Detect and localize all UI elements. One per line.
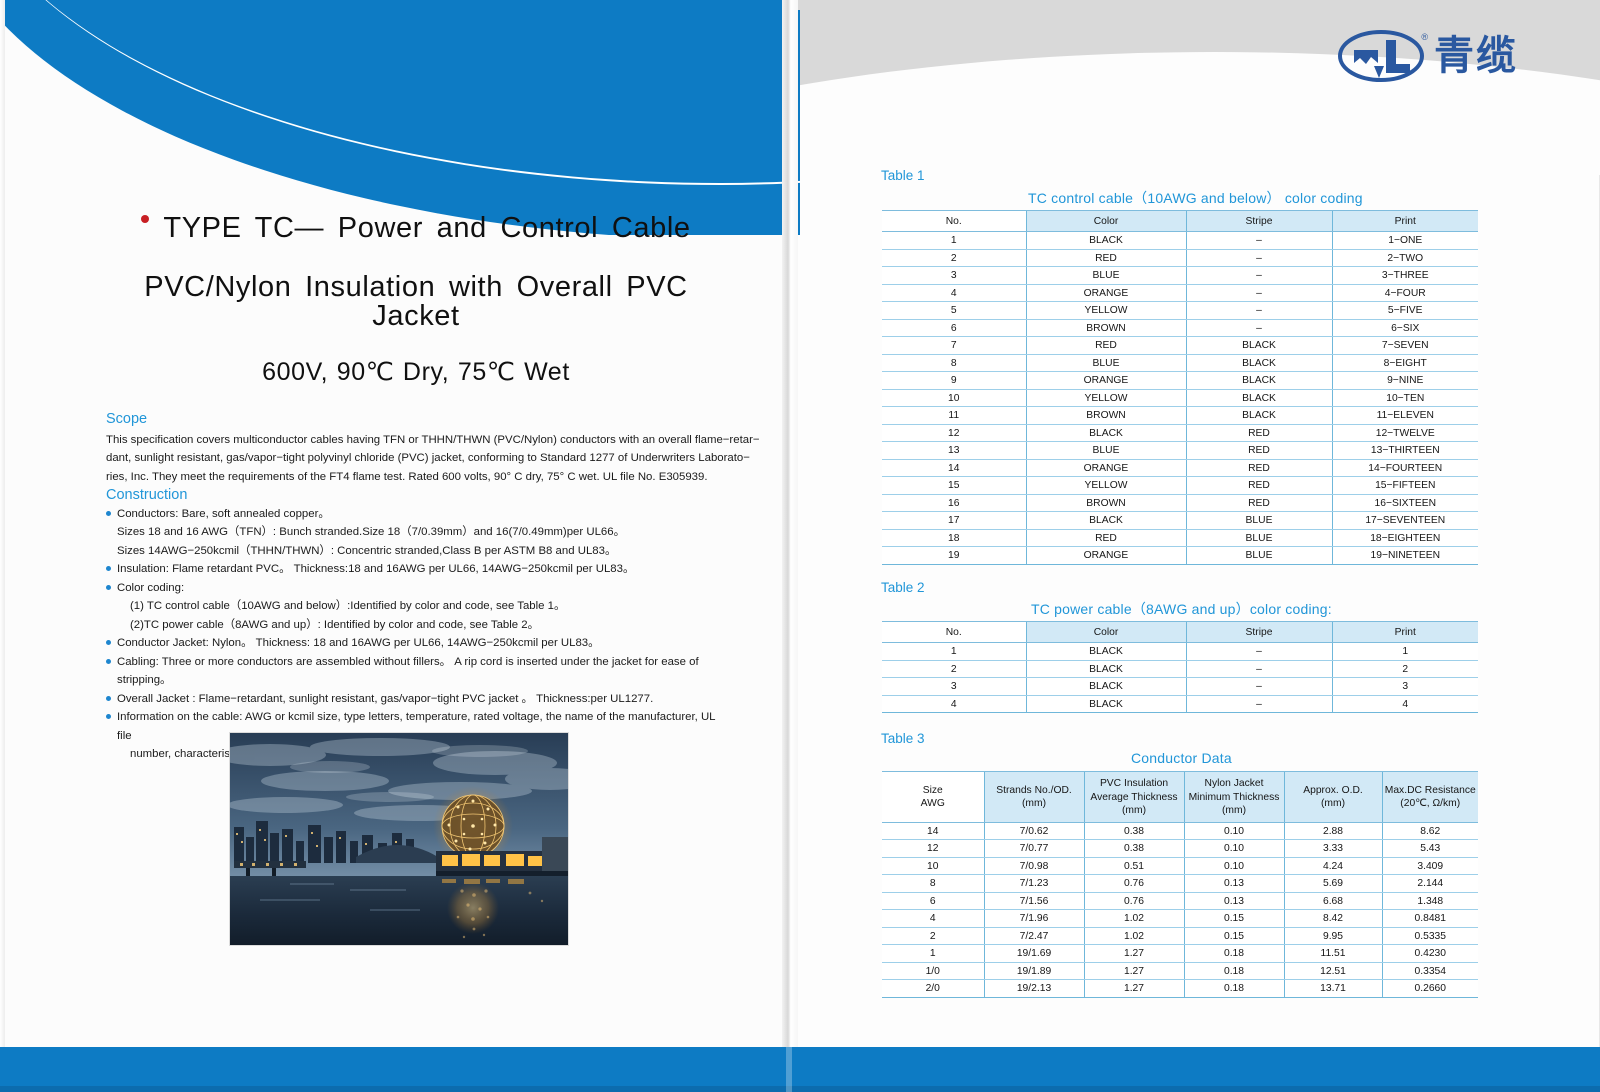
table-cell: 4.24 xyxy=(1284,857,1382,875)
table-cell: 2 xyxy=(882,927,984,945)
table-row: 13BLUERED13−THIRTEEN xyxy=(882,442,1478,460)
table-cell: BLACK xyxy=(1026,678,1186,696)
table-cell: RED xyxy=(1186,494,1332,512)
table-cell: 9 xyxy=(882,372,1026,390)
table-cell: 1/0 xyxy=(882,962,984,980)
table-cell: 0.76 xyxy=(1084,875,1184,893)
table-cell: BLACK xyxy=(1026,643,1186,661)
table-cell: 1.27 xyxy=(1084,962,1184,980)
construction-heading: Construction xyxy=(106,487,726,503)
table-cell: 11−ELEVEN xyxy=(1332,407,1478,425)
table-cell: BLACK xyxy=(1026,424,1186,442)
list-item: Cabling: Three or more conductors are as… xyxy=(106,653,726,690)
table-row: 4BLACK–4 xyxy=(882,695,1478,713)
table-cell: – xyxy=(1186,695,1332,713)
table-conductor-data: SizeAWGStrands No./OD.(mm)PVC Insulation… xyxy=(882,771,1478,998)
footer-bar xyxy=(0,1047,1600,1092)
table-cell: BLUE xyxy=(1186,512,1332,530)
table-cell: – xyxy=(1186,678,1332,696)
table-cell: 19/2.13 xyxy=(984,980,1084,998)
table-cell: 0.5335 xyxy=(1382,927,1478,945)
table1-title: TC control cable（10AWG and below） color … xyxy=(1028,188,1363,208)
table2-title: TC power cable（8AWG and up）color coding: xyxy=(1031,599,1332,619)
table-cell: ORANGE xyxy=(1026,284,1186,302)
column-header-strands-no-od: Strands No./OD.(mm) xyxy=(984,772,1084,823)
table-cell: 1.02 xyxy=(1084,910,1184,928)
table-cell: 7/2.47 xyxy=(984,927,1084,945)
table-cell: 7/0.77 xyxy=(984,840,1084,858)
table-cell: 0.2660 xyxy=(1382,980,1478,998)
list-item: (2)TC power cable（8AWG and up）: Identifi… xyxy=(106,616,726,634)
column-header-nylon-jacket: Nylon JacketMinimum Thickness(mm) xyxy=(1184,772,1284,823)
column-header-no: No. xyxy=(882,211,1026,232)
table-row: 9ORANGEBLACK9−NINE xyxy=(882,372,1478,390)
table-cell: – xyxy=(1186,660,1332,678)
table-cell: 6−SIX xyxy=(1332,319,1478,337)
table-cell: 16 xyxy=(882,494,1026,512)
table-cell: 8−EIGHT xyxy=(1332,354,1478,372)
table-cell: 13 xyxy=(882,442,1026,460)
table-cell: 12 xyxy=(882,840,984,858)
table-row: 119/1.691.270.1811.510.4230 xyxy=(882,945,1478,963)
table-cell: 0.4230 xyxy=(1382,945,1478,963)
logo-chinese-name: 青缆 xyxy=(1434,36,1518,76)
table-cell: YELLOW xyxy=(1026,389,1186,407)
table-header-row: SizeAWGStrands No./OD.(mm)PVC Insulation… xyxy=(882,772,1478,823)
table-cell: 3.33 xyxy=(1284,840,1382,858)
footer-spine-mark xyxy=(786,1047,792,1092)
table-cell: YELLOW xyxy=(1026,302,1186,320)
table-cell: 8 xyxy=(882,875,984,893)
table-cell: BLUE xyxy=(1026,442,1186,460)
table-cell: 18−EIGHTEEN xyxy=(1332,529,1478,547)
table-cell: ORANGE xyxy=(1026,372,1186,390)
table-cell: BLACK xyxy=(1186,337,1332,355)
table-cell: 7 xyxy=(882,337,1026,355)
table-cell: 5.43 xyxy=(1382,840,1478,858)
table-cell: 7/1.23 xyxy=(984,875,1084,893)
table-row: 8BLUEBLACK8−EIGHT xyxy=(882,354,1478,372)
table-row: 67/1.560.760.136.681.348 xyxy=(882,892,1478,910)
table-cell: 7/0.98 xyxy=(984,857,1084,875)
table-cell: BLACK xyxy=(1026,512,1186,530)
table-cell: 13.71 xyxy=(1284,980,1382,998)
column-header-color: Color xyxy=(1026,622,1186,643)
table-cell: BROWN xyxy=(1026,319,1186,337)
table-cell: 0.15 xyxy=(1184,910,1284,928)
table-tc-control-color-coding: No.ColorStripePrint 1BLACK–1−ONE2RED–2−T… xyxy=(882,210,1478,565)
table-cell: BLUE xyxy=(1186,547,1332,565)
list-item: Conductors: Bare, soft annealed copper。 xyxy=(106,505,726,523)
table-cell: 4 xyxy=(1332,695,1478,713)
list-item: Insulation: Flame retardant PVC。 Thickne… xyxy=(106,560,726,578)
table-cell: 7/1.56 xyxy=(984,892,1084,910)
table-cell: 8.62 xyxy=(1382,822,1478,840)
table-cell: RED xyxy=(1026,529,1186,547)
table-cell: BLACK xyxy=(1026,232,1186,250)
table-cell: 19 xyxy=(882,547,1026,565)
table-cell: 19−NINETEEN xyxy=(1332,547,1478,565)
table-cell: 7−SEVEN xyxy=(1332,337,1478,355)
table-row: 19ORANGEBLUE19−NINETEEN xyxy=(882,547,1478,565)
table-cell: BLUE xyxy=(1026,354,1186,372)
table-cell: ORANGE xyxy=(1026,459,1186,477)
table-row: 12BLACKRED12−TWELVE xyxy=(882,424,1478,442)
table-cell: 7/0.62 xyxy=(984,822,1084,840)
table-cell: YELLOW xyxy=(1026,477,1186,495)
table-cell: 0.8481 xyxy=(1382,910,1478,928)
table-row: 2BLACK–2 xyxy=(882,660,1478,678)
table-row: 107/0.980.510.104.243.409 xyxy=(882,857,1478,875)
list-item: Conductor Jacket: Nylon。 Thickness: 18 a… xyxy=(106,634,726,652)
scope-line: This specification covers multiconductor… xyxy=(106,431,726,449)
table-row: 16BROWNRED16−SIXTEEN xyxy=(882,494,1478,512)
table-cell: – xyxy=(1186,319,1332,337)
list-item: Sizes 14AWG−250kcmil（THHN/THWN）: Concent… xyxy=(106,542,726,560)
table-cell: 9−NINE xyxy=(1332,372,1478,390)
table-cell: RED xyxy=(1026,249,1186,267)
list-item: (1) TC control cable（10AWG and below）:Id… xyxy=(106,597,726,615)
list-item: Sizes 18 and 16 AWG（TFN）: Bunch stranded… xyxy=(106,523,726,541)
specification-body: Scope This specification covers multicon… xyxy=(106,410,726,764)
table-row: 10YELLOWBLACK10−TEN xyxy=(882,389,1478,407)
table-cell: 0.10 xyxy=(1184,857,1284,875)
table-cell: 1.02 xyxy=(1084,927,1184,945)
table-header-row: No.ColorStripePrint xyxy=(882,622,1478,643)
table-cell: 17 xyxy=(882,512,1026,530)
table-row: 1/019/1.891.270.1812.510.3354 xyxy=(882,962,1478,980)
table-row: 2RED–2−TWO xyxy=(882,249,1478,267)
table-row: 3BLUE–3−THREE xyxy=(882,267,1478,285)
table-cell: 0.76 xyxy=(1084,892,1184,910)
column-header-print: Print xyxy=(1332,211,1478,232)
table-cell: – xyxy=(1186,249,1332,267)
table-cell: – xyxy=(1186,643,1332,661)
table-cell: 12 xyxy=(882,424,1026,442)
table1-label: Table 1 xyxy=(881,168,925,183)
table-cell: 19/1.89 xyxy=(984,962,1084,980)
table-cell: 1 xyxy=(882,232,1026,250)
column-header-no: No. xyxy=(882,622,1026,643)
scope-paragraph: This specification covers multiconductor… xyxy=(106,431,726,486)
table-cell: 5−FIVE xyxy=(1332,302,1478,320)
header-gray-band xyxy=(795,0,1600,175)
column-header-approx-o-d: Approx. O.D.(mm) xyxy=(1284,772,1382,823)
column-header-pvc-insulation: PVC InsulationAverage Thickness(mm) xyxy=(1084,772,1184,823)
scope-line: dant, sunlight resistant, gas/vapor−tigh… xyxy=(106,449,726,467)
table-cell: 1 xyxy=(882,643,1026,661)
table-cell: 3.409 xyxy=(1382,857,1478,875)
left-sheet-edge xyxy=(0,0,5,1092)
table-cell: 0.10 xyxy=(1184,840,1284,858)
ql-emblem-icon: ® xyxy=(1338,30,1424,82)
table-cell: 2−TWO xyxy=(1332,249,1478,267)
table-cell: 3 xyxy=(882,267,1026,285)
table-cell: 0.15 xyxy=(1184,927,1284,945)
table-cell: 2.144 xyxy=(1382,875,1478,893)
table-tc-power-color-coding: No.ColorStripePrint 1BLACK–12BLACK–23BLA… xyxy=(882,621,1478,713)
table-cell: BROWN xyxy=(1026,407,1186,425)
list-item: Overall Jacket : Flame−retardant, sunlig… xyxy=(106,690,726,708)
column-header-color: Color xyxy=(1026,211,1186,232)
table-cell: 11 xyxy=(882,407,1026,425)
scope-heading: Scope xyxy=(106,410,726,430)
table-cell: 10−TEN xyxy=(1332,389,1478,407)
table-row: 3BLACK–3 xyxy=(882,678,1478,696)
table3-label: Table 3 xyxy=(881,731,925,746)
table-cell: 18 xyxy=(882,529,1026,547)
table-cell: BLUE xyxy=(1186,529,1332,547)
column-header-stripe: Stripe xyxy=(1186,622,1332,643)
table-cell: 1 xyxy=(882,945,984,963)
table-cell: 4 xyxy=(882,910,984,928)
book-spine xyxy=(782,0,798,1092)
column-header-max-dc-resistance: Max.DC Resistance(20℃, Ω/km) xyxy=(1382,772,1478,823)
headline-line-1: TYPE TC— Power and Control Cable xyxy=(96,214,736,243)
table-cell: 0.13 xyxy=(1184,875,1284,893)
table-cell: BLACK xyxy=(1186,372,1332,390)
table-cell: 5.69 xyxy=(1284,875,1382,893)
product-photo xyxy=(230,733,568,945)
table-row: 5YELLOW–5−FIVE xyxy=(882,302,1478,320)
table-cell: 5 xyxy=(882,302,1026,320)
header-blue-swoosh xyxy=(0,0,800,235)
table-cell: 0.18 xyxy=(1184,980,1284,998)
table2-label: Table 2 xyxy=(881,580,925,595)
table-row: 6BROWN–6−SIX xyxy=(882,319,1478,337)
column-header-print: Print xyxy=(1332,622,1478,643)
table-cell: 16−SIXTEEN xyxy=(1332,494,1478,512)
table-cell: 8.42 xyxy=(1284,910,1382,928)
table-cell: 14 xyxy=(882,459,1026,477)
table3-title: Conductor Data xyxy=(1131,750,1232,766)
table-cell: – xyxy=(1186,267,1332,285)
table-cell: 7/1.96 xyxy=(984,910,1084,928)
table-row: 127/0.770.380.103.335.43 xyxy=(882,840,1478,858)
table-cell: 3−THREE xyxy=(1332,267,1478,285)
list-item: Color coding: xyxy=(106,579,726,597)
table-cell: 9.95 xyxy=(1284,927,1382,945)
table-cell: 11.51 xyxy=(1284,945,1382,963)
table-cell: 14−FOURTEEN xyxy=(1332,459,1478,477)
table-row: 4ORANGE–4−FOUR xyxy=(882,284,1478,302)
table-cell: 1−ONE xyxy=(1332,232,1478,250)
table-cell: 12−TWELVE xyxy=(1332,424,1478,442)
scope-line: ries, Inc. They meet the requirements of… xyxy=(106,468,726,486)
table-row: 17BLACKBLUE17−SEVENTEEN xyxy=(882,512,1478,530)
headline-line-3: 600V, 90℃ Dry, 75℃ Wet xyxy=(96,360,736,385)
table-cell: 2/0 xyxy=(882,980,984,998)
table-cell: 1.27 xyxy=(1084,945,1184,963)
table-cell: – xyxy=(1186,232,1332,250)
table-header-row: No.ColorStripePrint xyxy=(882,211,1478,232)
column-header-stripe: Stripe xyxy=(1186,211,1332,232)
table-cell: 0.10 xyxy=(1184,822,1284,840)
table-cell: 3 xyxy=(882,678,1026,696)
table-cell: BROWN xyxy=(1026,494,1186,512)
table-cell: 2.88 xyxy=(1284,822,1382,840)
table-row: 1BLACK–1 xyxy=(882,643,1478,661)
table-cell: 8 xyxy=(882,354,1026,372)
table-cell: 0.3354 xyxy=(1382,962,1478,980)
table-cell: 17−SEVENTEEN xyxy=(1332,512,1478,530)
table-cell: BLACK xyxy=(1186,389,1332,407)
table-row: 1BLACK–1−ONE xyxy=(882,232,1478,250)
table-cell: 0.51 xyxy=(1084,857,1184,875)
table-cell: 0.13 xyxy=(1184,892,1284,910)
table-cell: 6 xyxy=(882,319,1026,337)
table-cell: 6.68 xyxy=(1284,892,1382,910)
table-row: 14ORANGERED14−FOURTEEN xyxy=(882,459,1478,477)
table-cell: RED xyxy=(1186,459,1332,477)
table-cell: 0.18 xyxy=(1184,962,1284,980)
table-row: 147/0.620.380.102.888.62 xyxy=(882,822,1478,840)
table-row: 7REDBLACK7−SEVEN xyxy=(882,337,1478,355)
table-cell: 1.348 xyxy=(1382,892,1478,910)
table-cell: 0.38 xyxy=(1084,840,1184,858)
brochure-page: ® 青缆 TYPE TC— Power and Control Cable PV… xyxy=(0,0,1600,1092)
table-cell: 6 xyxy=(882,892,984,910)
table-cell: 0.38 xyxy=(1084,822,1184,840)
red-bullet-icon xyxy=(141,215,149,223)
construction-list: Conductors: Bare, soft annealed copper。 … xyxy=(106,505,726,764)
table-cell: 10 xyxy=(882,389,1026,407)
table-cell: 4−FOUR xyxy=(1332,284,1478,302)
table-cell: 15 xyxy=(882,477,1026,495)
table-row: 87/1.230.760.135.692.144 xyxy=(882,875,1478,893)
table-cell: – xyxy=(1186,302,1332,320)
table-row: 27/2.471.020.159.950.5335 xyxy=(882,927,1478,945)
table-row: 18REDBLUE18−EIGHTEEN xyxy=(882,529,1478,547)
table-cell: RED xyxy=(1026,337,1186,355)
column-header-size: SizeAWG xyxy=(882,772,984,823)
table-cell: 1 xyxy=(1332,643,1478,661)
header-gray-top-strip xyxy=(795,0,1600,10)
table-cell: BLACK xyxy=(1026,695,1186,713)
table-row: 2/019/2.131.270.1813.710.2660 xyxy=(882,980,1478,998)
table-row: 11BROWNBLACK11−ELEVEN xyxy=(882,407,1478,425)
table-cell: BLUE xyxy=(1026,267,1186,285)
table-cell: 3 xyxy=(1332,678,1478,696)
table-cell: RED xyxy=(1186,424,1332,442)
page-title: TYPE TC— Power and Control Cable PVC/Nyl… xyxy=(96,214,736,385)
registered-trademark-icon: ® xyxy=(1421,32,1428,42)
table-cell: RED xyxy=(1186,477,1332,495)
table-cell: 12.51 xyxy=(1284,962,1382,980)
table-cell: 4 xyxy=(882,284,1026,302)
table-cell: 2 xyxy=(882,660,1026,678)
table-cell: BLACK xyxy=(1026,660,1186,678)
table-cell: 2 xyxy=(1332,660,1478,678)
table-cell: – xyxy=(1186,284,1332,302)
table-cell: RED xyxy=(1186,442,1332,460)
table-cell: BLACK xyxy=(1186,354,1332,372)
table-row: 15YELLOWRED15−FIFTEEN xyxy=(882,477,1478,495)
table-row: 47/1.961.020.158.420.8481 xyxy=(882,910,1478,928)
table-cell: BLACK xyxy=(1186,407,1332,425)
table-cell: 15−FIFTEEN xyxy=(1332,477,1478,495)
headline-line-2: PVC/Nylon Insulation with Overall PVC Ja… xyxy=(96,273,736,331)
table-cell: 14 xyxy=(882,822,984,840)
table-cell: 2 xyxy=(882,249,1026,267)
table-cell: 13−THIRTEEN xyxy=(1332,442,1478,460)
table-cell: 4 xyxy=(882,695,1026,713)
table-cell: ORANGE xyxy=(1026,547,1186,565)
table-cell: 10 xyxy=(882,857,984,875)
table-cell: 0.18 xyxy=(1184,945,1284,963)
company-logo: ® 青缆 xyxy=(1338,30,1518,82)
table-cell: 1.27 xyxy=(1084,980,1184,998)
table-cell: 19/1.69 xyxy=(984,945,1084,963)
